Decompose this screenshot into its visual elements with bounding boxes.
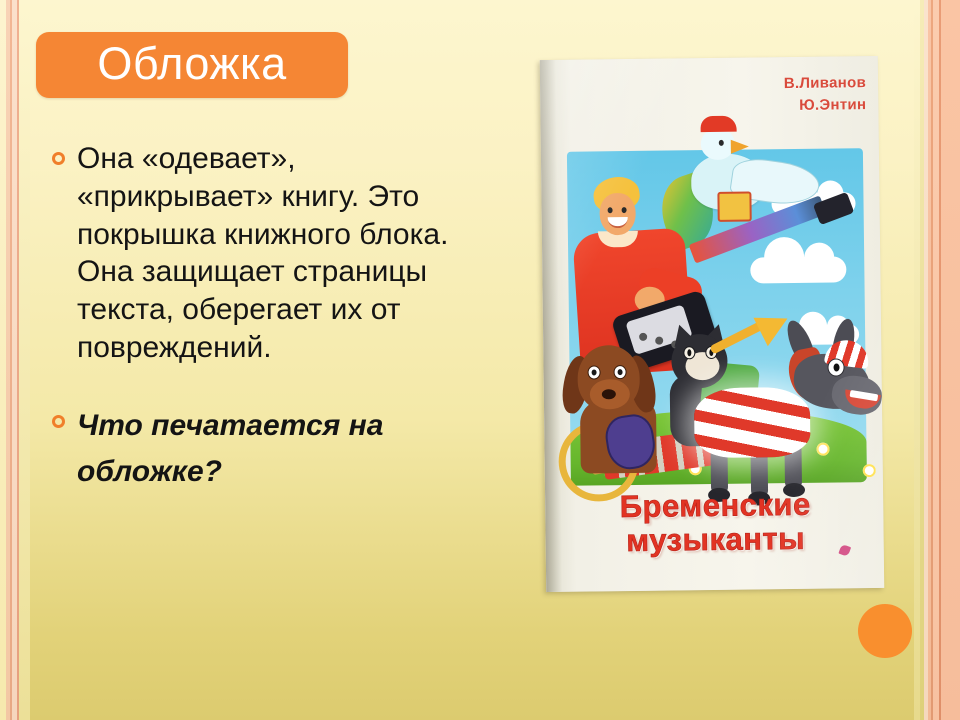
slide: Обложка Она «одевает», «прикрывает» книг… xyxy=(0,0,960,720)
orange-circle-decoration xyxy=(858,604,912,658)
author-name-2: Ю.Энтин xyxy=(784,94,867,117)
list-item: Что печатается на обложке? xyxy=(52,403,482,496)
slide-title-box: Обложка xyxy=(36,32,348,98)
author-name-1: В.Ливанов xyxy=(784,72,867,95)
book-title-line-2: музыканты xyxy=(557,522,873,557)
right-edge-decoration xyxy=(914,0,960,720)
bullet-ring-icon xyxy=(52,152,65,165)
list-item: Она «одевает», «прикрывает» книгу. Это п… xyxy=(52,140,482,367)
page-title: Обложка xyxy=(97,41,286,86)
bullet-ring-icon xyxy=(52,415,65,428)
flower-icon xyxy=(863,464,876,477)
bullet-text: Она «одевает», «прикрывает» книгу. Это п… xyxy=(77,140,482,367)
book-cover-photo: В.Ливанов Ю.Энтин xyxy=(540,56,884,592)
bullet-list: Она «одевает», «прикрывает» книгу. Это п… xyxy=(52,140,482,496)
book-authors: В.Ливанов Ю.Энтин xyxy=(784,72,867,117)
book-title-line-1: Бременские xyxy=(620,487,811,524)
bullet-text-question: Что печатается на обложке? xyxy=(77,403,482,496)
left-edge-decoration xyxy=(0,0,30,720)
cloud-icon xyxy=(750,256,846,283)
book-title: Бременские музыканты xyxy=(557,488,874,557)
flower-icon xyxy=(816,443,829,456)
